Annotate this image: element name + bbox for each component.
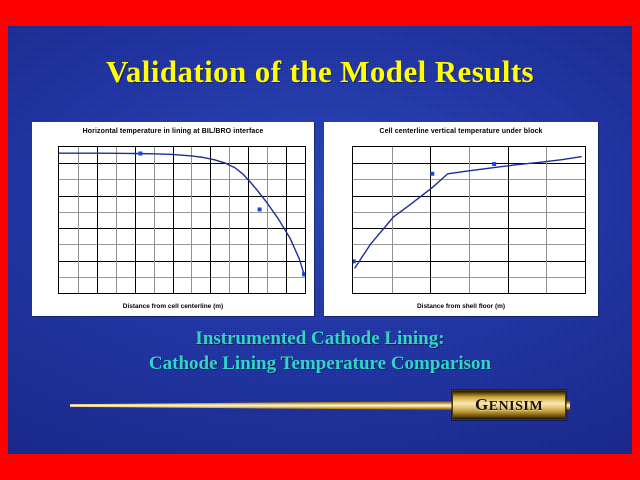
plot-svg-left <box>59 147 305 293</box>
chart-panel-left: Horizontal temperature in lining at BIL/… <box>32 122 314 316</box>
decorative-gold-bar: GENISIM <box>70 397 570 413</box>
plot-svg-right <box>353 147 585 293</box>
chart-xlabel-right: Distance from shell floor (m) <box>324 303 598 310</box>
logo-rest: ENISIM <box>489 399 543 414</box>
chart-title-left: Horizontal temperature in lining at BIL/… <box>32 128 314 135</box>
genisim-logo-text: GENISIM <box>475 395 543 415</box>
plot-area-left <box>58 146 306 294</box>
subtitle-line-1: Instrumented Cathode Lining: <box>8 326 632 351</box>
slide-canvas: Validation of the Model Results Horizont… <box>8 26 632 454</box>
chart-panel-right: Cell centerline vertical temperature und… <box>324 122 598 316</box>
genisim-logo: GENISIM <box>452 390 566 420</box>
logo-initial: G <box>475 395 489 414</box>
page-title: Validation of the Model Results <box>8 54 632 90</box>
subtitle-block: Instrumented Cathode Lining: Cathode Lin… <box>8 326 632 376</box>
plot-area-right <box>352 146 586 294</box>
chart-xlabel-left: Distance from cell centerline (m) <box>32 303 314 310</box>
subtitle-line-2: Cathode Lining Temperature Comparison <box>8 351 632 376</box>
chart-title-right: Cell centerline vertical temperature und… <box>324 128 598 135</box>
